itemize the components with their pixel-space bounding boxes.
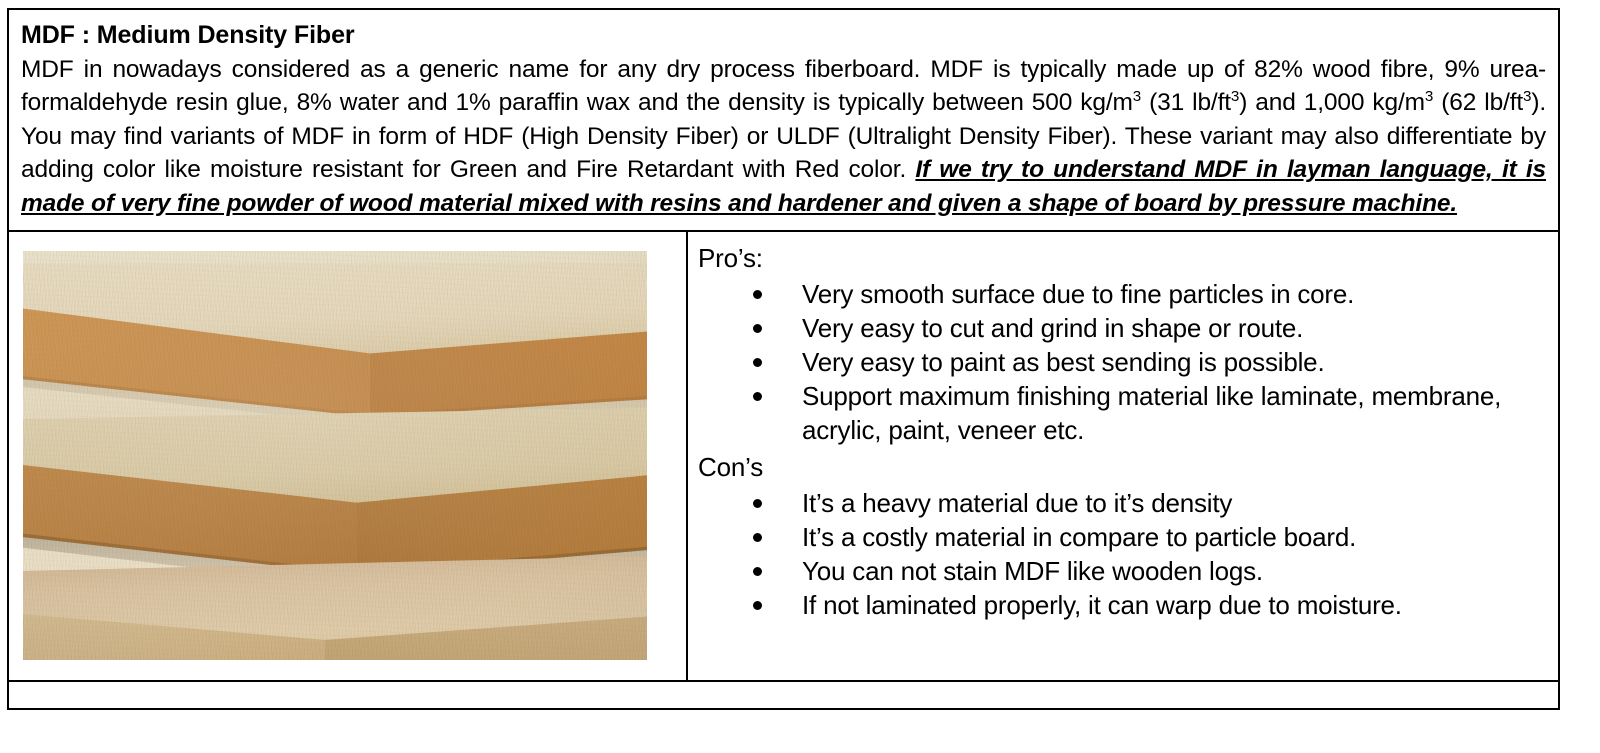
bullet-icon (753, 392, 762, 401)
pros-item-label: Very smooth surface due to fine particle… (802, 279, 1354, 309)
list-item: It’s a costly material in compare to par… (698, 520, 1550, 554)
bullet-icon (753, 567, 762, 576)
superscript-cubic-meter-2: 3 (1425, 88, 1433, 105)
list-item: It’s a heavy material due to it’s densit… (698, 486, 1550, 520)
cons-item-label: It’s a heavy material due to it’s densit… (802, 488, 1232, 518)
mdf-board-bottom (23, 554, 647, 660)
list-item: Very easy to paint as best sending is po… (698, 345, 1550, 379)
superscript-cubic-foot-1: 3 (1231, 88, 1239, 105)
bullet-icon (753, 499, 762, 508)
superscript-cubic-meter-1: 3 (1133, 88, 1141, 105)
bullet-icon (753, 533, 762, 542)
mdf-info-table: MDF : Medium Density Fiber MDF in nowada… (7, 8, 1560, 710)
list-item: Support maximum finishing material like … (698, 379, 1550, 447)
pros-heading: Pro’s: (698, 242, 1550, 276)
bullet-icon (753, 290, 762, 299)
mdf-board-photo (23, 251, 647, 660)
page-title: MDF : Medium Density Fiber (21, 20, 1546, 51)
bullet-icon (753, 358, 762, 367)
intro-cell: MDF : Medium Density Fiber MDF in nowada… (9, 10, 1558, 232)
mdf-board-middle (23, 406, 647, 578)
cons-item-label: You can not stain MDF like wooden logs. (802, 556, 1263, 586)
cons-item-label: It’s a costly material in compare to par… (802, 522, 1356, 552)
document-page: MDF : Medium Density Fiber MDF in nowada… (0, 0, 1600, 753)
content-row: Pro’s: Very smooth surface due to fine p… (9, 232, 1558, 682)
cons-list: It’s a heavy material due to it’s densit… (698, 486, 1550, 622)
bullet-icon (753, 601, 762, 610)
cons-heading: Con’s (698, 451, 1550, 485)
list-item: If not laminated properly, it can warp d… (698, 588, 1550, 622)
list-item: Very easy to cut and grind in shape or r… (698, 311, 1550, 345)
description-part-4: (62 lb/ft (1433, 89, 1523, 116)
list-item: You can not stain MDF like wooden logs. (698, 554, 1550, 588)
list-item: Very smooth surface due to fine particle… (698, 277, 1550, 311)
mdf-board-top (23, 263, 647, 418)
pros-item-label: Support maximum finishing material like … (802, 381, 1501, 445)
image-cell (9, 232, 688, 680)
description-part-2: (31 lb/ft (1141, 89, 1231, 116)
pros-item-label: Very easy to cut and grind in shape or r… (802, 313, 1303, 343)
next-table-row (9, 682, 1558, 708)
pros-cons-cell: Pro’s: Very smooth surface due to fine p… (688, 232, 1558, 680)
pros-item-label: Very easy to paint as best sending is po… (802, 347, 1324, 377)
description-part-3: ) and 1,000 kg/m (1239, 89, 1425, 116)
description-paragraph: MDF in nowadays considered as a generic … (21, 53, 1546, 221)
bullet-icon (753, 324, 762, 333)
cons-item-label: If not laminated properly, it can warp d… (802, 590, 1402, 620)
pros-list: Very smooth surface due to fine particle… (698, 277, 1550, 447)
